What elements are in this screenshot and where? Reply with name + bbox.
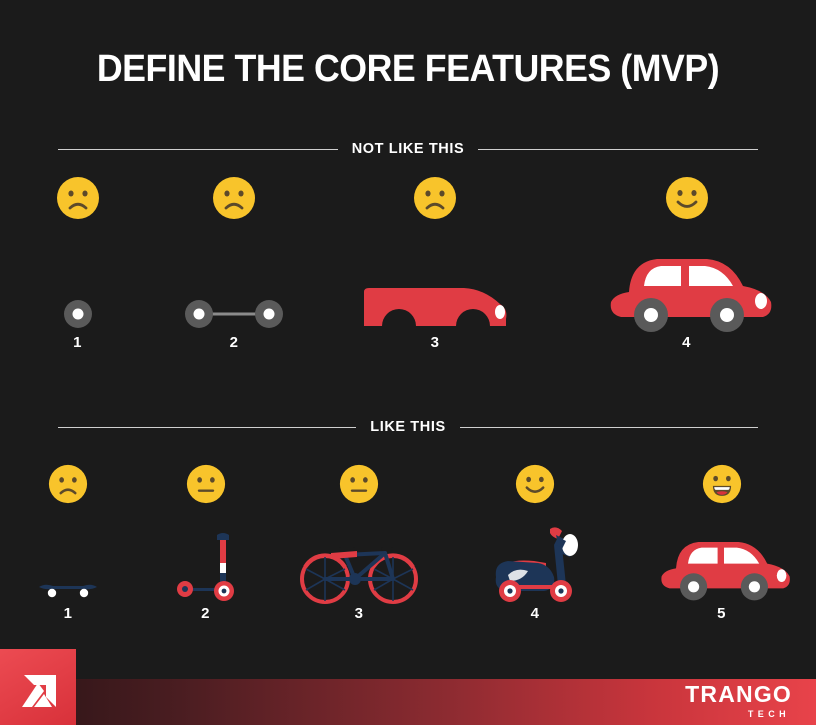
art-slot: [360, 224, 510, 334]
sad-face-icon: [212, 176, 256, 220]
arrow-logo-mark-icon: [12, 661, 64, 713]
step-number: 4: [531, 605, 540, 622]
face-slot: [413, 172, 457, 224]
step-like-3: 3: [275, 458, 443, 622]
divider-like-this: LIKE THIS: [58, 419, 758, 435]
divider-rule-right: [478, 149, 758, 150]
divider-label: NOT LIKE THIS: [352, 141, 465, 157]
brand-lockup: TRANGO TECH: [685, 683, 792, 719]
art-slot: [171, 510, 241, 605]
neutral-face-icon: [339, 464, 379, 504]
brand-subtitle: TECH: [685, 710, 790, 719]
row-not-like-this: 1 2: [0, 172, 816, 351]
step-number: 3: [355, 605, 364, 622]
vespa-scooter-icon: [482, 519, 588, 605]
art-slot: [179, 224, 289, 334]
face-slot: [665, 172, 709, 224]
face-slot: [56, 172, 100, 224]
kick-scooter-icon: [171, 523, 241, 605]
face-slot: [515, 458, 555, 510]
step-number: 2: [201, 605, 210, 622]
footer-spacer: [0, 645, 816, 679]
grin-face-icon: [702, 464, 742, 504]
complete-car-icon: [652, 527, 792, 605]
step-like-2: 2: [136, 458, 275, 622]
step-like-5: 5: [627, 458, 816, 622]
car-body-no-wheels-icon: [360, 274, 510, 334]
step-number: 2: [230, 334, 239, 351]
step-number: 3: [431, 334, 440, 351]
step-not-like-1: 1: [0, 172, 155, 351]
face-slot: [186, 458, 226, 510]
step-number: 5: [717, 605, 726, 622]
divider-not-like-this: NOT LIKE THIS: [58, 141, 758, 157]
step-number: 1: [64, 605, 73, 622]
single-wheel-icon: [58, 294, 98, 334]
step-number: 1: [73, 334, 82, 351]
face-slot: [702, 458, 742, 510]
sad-face-icon: [48, 464, 88, 504]
divider-rule-left: [58, 149, 338, 150]
art-slot: [599, 224, 774, 334]
neutral-face-icon: [186, 464, 226, 504]
page-title: DEFINE THE CORE FEATURES (MVP): [24, 48, 791, 91]
sad-face-icon: [413, 176, 457, 220]
step-number: 4: [682, 334, 691, 351]
step-not-like-4: 4: [557, 172, 816, 351]
bicycle-icon: [297, 533, 421, 605]
art-slot: [37, 510, 99, 605]
brand-name: TRANGO: [685, 683, 792, 706]
two-wheels-axle-icon: [179, 294, 289, 334]
art-slot: [58, 224, 98, 334]
row-like-this: 1: [0, 458, 816, 622]
face-slot: [48, 458, 88, 510]
sad-face-icon: [56, 176, 100, 220]
divider-label: LIKE THIS: [370, 419, 446, 435]
step-not-like-3: 3: [313, 172, 557, 351]
art-slot: [652, 510, 792, 605]
complete-car-icon: [599, 244, 774, 334]
mvp-infographic: DEFINE THE CORE FEATURES (MVP) NOT LIKE …: [0, 0, 816, 725]
art-slot: [482, 510, 588, 605]
face-slot: [339, 458, 379, 510]
trango-logo-icon: [0, 649, 76, 725]
step-not-like-2: 2: [155, 172, 313, 351]
art-slot: [297, 510, 421, 605]
happy-face-icon: [515, 464, 555, 504]
footer-bar: TRANGO TECH: [0, 679, 816, 725]
happy-face-icon: [665, 176, 709, 220]
step-like-1: 1: [0, 458, 136, 622]
skateboard-icon: [37, 579, 99, 605]
divider-rule-left: [58, 427, 356, 428]
step-like-4: 4: [443, 458, 627, 622]
face-slot: [212, 172, 256, 224]
divider-rule-right: [460, 427, 758, 428]
